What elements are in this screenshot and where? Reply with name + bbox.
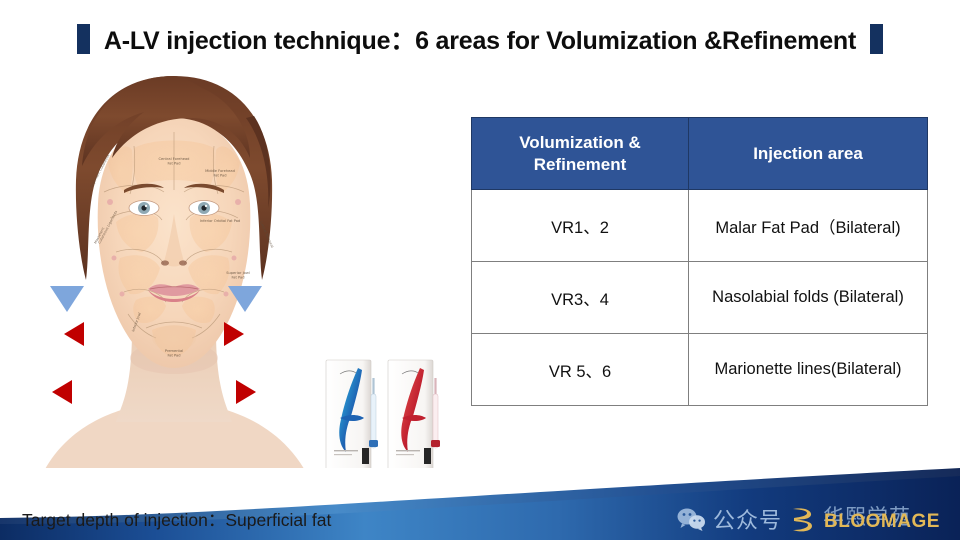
- bloomage-logo-mark: [789, 504, 815, 534]
- wechat-label: 公众号: [713, 503, 782, 535]
- footer-brand: 公众号 华熙学苑 BLOOMAGE: [676, 503, 823, 535]
- svg-text:Fat Pad: Fat Pad: [232, 276, 245, 280]
- title-accent-bar-left: [77, 24, 90, 54]
- table-header-volumization-refinement: Volumization & Refinement: [472, 118, 689, 190]
- face-illustration: Central ForeheadFat Pad Middle ForeheadF…: [24, 62, 324, 494]
- cell-injection-area: Marionette lines(Bilateral): [689, 334, 928, 406]
- table-header-row: Volumization & Refinement Injection area: [472, 118, 928, 190]
- svg-text:Inferior Orbital Fat Pad: Inferior Orbital Fat Pad: [200, 219, 240, 223]
- svg-text:Fat Pad: Fat Pad: [214, 174, 227, 178]
- table-row: VR1、2 Malar Fat Pad（Bilateral): [472, 190, 928, 262]
- product-packshot: [318, 352, 466, 480]
- cell-area-code: VR1、2: [472, 190, 689, 262]
- svg-text:Premental: Premental: [165, 349, 183, 353]
- table-row: VR 5、6 Marionette lines(Bilateral): [472, 334, 928, 406]
- product-boxes-illustration: [318, 352, 466, 480]
- header-line-2: Refinement: [534, 155, 627, 174]
- marker-vr5-marionette-left: [52, 380, 72, 404]
- cell-area-code: VR3、4: [472, 262, 689, 334]
- wechat-icon: [676, 507, 706, 531]
- svg-text:Middle Forehead: Middle Forehead: [205, 169, 235, 173]
- brand-name-en: BLOOMAGE: [824, 511, 940, 533]
- slide-title-row: A-LV injection technique：6 areas for Vol…: [0, 18, 960, 60]
- target-depth-note: Target depth of injection：Superficial fa…: [22, 507, 331, 532]
- injection-areas-table: Volumization & Refinement Injection area…: [471, 117, 928, 406]
- page-title: A-LV injection technique：6 areas for Vol…: [104, 21, 856, 57]
- marker-vr2-malar-right: [228, 286, 262, 312]
- svg-text:Central Forehead: Central Forehead: [159, 157, 190, 161]
- svg-text:Superior Jowl: Superior Jowl: [226, 271, 250, 275]
- marker-vr1-malar-left: [50, 286, 84, 312]
- table-header-injection-area: Injection area: [689, 118, 928, 190]
- marker-vr6-marionette-right: [236, 380, 256, 404]
- header-line-1: Volumization &: [519, 133, 641, 152]
- face-anatomy-image: Central ForeheadFat Pad Middle ForeheadF…: [24, 62, 324, 494]
- marker-vr4-nasolabial-right: [224, 322, 244, 346]
- svg-text:Fat Pad: Fat Pad: [168, 162, 181, 166]
- cell-injection-area: Nasolabial folds (Bilateral): [689, 262, 928, 334]
- marker-vr3-nasolabial-left: [64, 322, 84, 346]
- title-accent-bar-right: [870, 24, 883, 54]
- svg-text:Fat Pad: Fat Pad: [168, 354, 181, 358]
- cell-injection-area: Malar Fat Pad（Bilateral): [689, 190, 928, 262]
- cell-area-code: VR 5、6: [472, 334, 689, 406]
- table-row: VR3、4 Nasolabial folds (Bilateral): [472, 262, 928, 334]
